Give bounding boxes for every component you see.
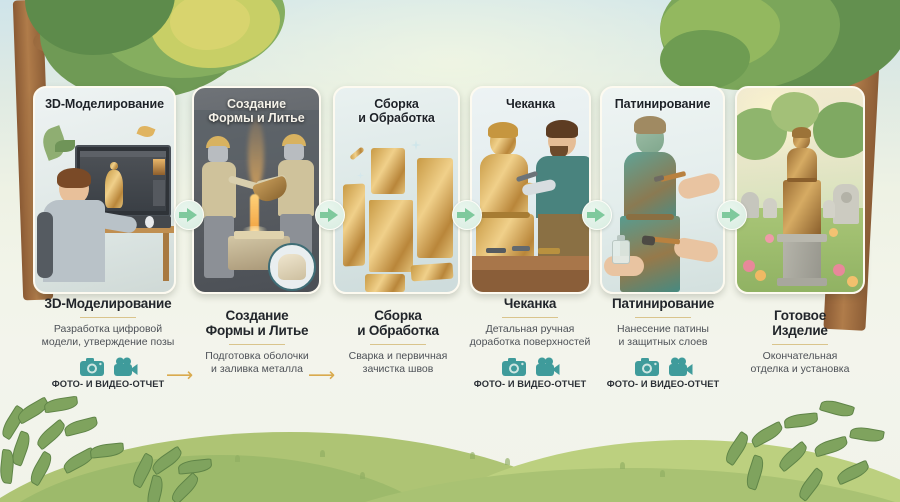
step-6-title: Готовое Изделие [724, 308, 876, 338]
step-3-divider [370, 344, 426, 345]
arrow-right-icon [187, 208, 197, 222]
step-4-description: Детальная ручная доработка поверхностей [455, 323, 605, 349]
step-1-divider [80, 317, 136, 318]
step-2-connector-arrow [315, 200, 345, 230]
step-5-title: Патинирование [588, 296, 738, 311]
step-5-card[interactable]: Патинирование [600, 86, 725, 294]
video-camera-icon [534, 357, 560, 377]
scene-3d-modeling [35, 88, 174, 292]
step-4-card-title: Чеканка [472, 97, 589, 111]
step-3-caption-arrow: ⟶ [308, 366, 335, 385]
step-3-connector-arrow [452, 200, 482, 230]
scene-patination [602, 88, 723, 292]
step-4-connector-arrow [582, 200, 612, 230]
step-5-connector-arrow [717, 200, 747, 230]
step-3-title: Сборка и Обработка [324, 308, 472, 338]
step-5-caption: Патинирование Нанесение патины и защитны… [588, 296, 738, 389]
step-1-card-title: 3D-Моделирование [35, 97, 174, 111]
step-2-caption: Создание Формы и Литье Подготовка оболоч… [186, 308, 328, 376]
step-5-description: Нанесение патины и защитных слоев [588, 323, 738, 349]
infographic-canvas: 3D-Моделирование 3D-Моделирование Разраб… [0, 0, 900, 502]
step-1-title: 3D-Моделирование [8, 296, 208, 311]
video-camera-icon [667, 357, 693, 377]
step-3-description: Сварка и первичная зачистка швов [324, 350, 472, 376]
arrow-right-icon [595, 208, 605, 222]
step-1-badge-label: ФОТО- И ВИДЕО-ОТЧЕТ [52, 379, 165, 389]
arrow-right-icon [465, 208, 475, 222]
step-4-title: Чеканка [455, 296, 605, 311]
scene-finished-statue [737, 88, 863, 292]
step-4-badge-label: ФОТО- И ВИДЕО-ОТЧЕТ [474, 379, 587, 389]
step-2-card-title: Создание Формы и Литье [194, 97, 319, 125]
scene-chasing-detailing [472, 88, 589, 292]
step-3-caption: Сборка и Обработка Сварка и первичная за… [324, 308, 472, 376]
step-5-badge-label: ФОТО- И ВИДЕО-ОТЧЕТ [607, 379, 720, 389]
arrow-right-icon [328, 208, 338, 222]
step-6-caption: Готовое Изделие Окончательная отделка и … [724, 308, 876, 376]
step-3-card-title: Сборка и Обработка [335, 97, 458, 125]
step-4-caption: Чеканка Детальная ручная доработка повер… [455, 296, 605, 389]
step-5-card-title: Патинирование [602, 97, 723, 111]
step-1-connector-arrow [174, 200, 204, 230]
step-2-divider [229, 344, 285, 345]
photo-camera-icon [79, 357, 105, 377]
video-camera-icon [112, 357, 138, 377]
step-2-card[interactable]: Создание Формы и Литье [192, 86, 321, 294]
step-2-caption-arrow: ⟶ [166, 366, 193, 385]
step-3-card[interactable]: Сборка и Обработка [333, 86, 460, 294]
photo-camera-icon [501, 357, 527, 377]
arrow-right-icon [730, 208, 740, 222]
step-1-card[interactable]: 3D-Моделирование [33, 86, 176, 294]
step-4-badge: ФОТО- И ВИДЕО-ОТЧЕТ [455, 357, 605, 389]
step-6-divider [772, 344, 828, 345]
step-2-description: Подготовка оболочки и заливка металла [186, 350, 328, 376]
step-4-divider [502, 317, 558, 318]
step-6-card[interactable] [735, 86, 865, 294]
photo-camera-icon [634, 357, 660, 377]
step-4-card[interactable]: Чеканка [470, 86, 591, 294]
step-2-title: Создание Формы и Литье [186, 308, 328, 338]
step-1-description: Разработка цифровой модели, утверждение … [8, 323, 208, 349]
step-5-divider [635, 317, 691, 318]
process-flow: 3D-Моделирование 3D-Моделирование Разраб… [0, 0, 900, 502]
step-6-description: Окончательная отделка и установка [724, 350, 876, 376]
step-5-badge: ФОТО- И ВИДЕО-ОТЧЕТ [588, 357, 738, 389]
